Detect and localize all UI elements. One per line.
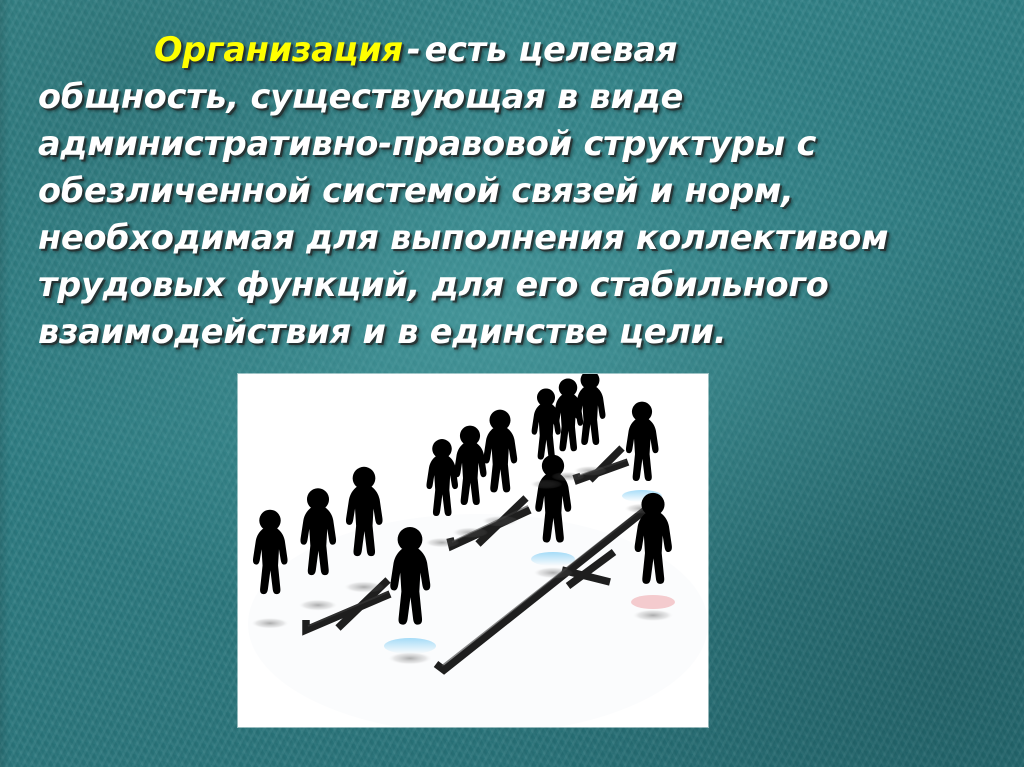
org-chart-illustration bbox=[238, 374, 708, 727]
highlighted-keyword: Организация bbox=[154, 30, 403, 69]
body-line-1-text: есть целевая bbox=[425, 30, 678, 69]
body-line-5: необходимая для выполнения коллективом bbox=[38, 214, 984, 261]
body-line-7: взаимодействия и в единстве цели. bbox=[38, 308, 984, 355]
slide-body-text: Организация-есть целевая общность, сущес… bbox=[38, 26, 984, 355]
body-line-3: административно-правовой структуры с bbox=[38, 120, 984, 167]
body-line-4: обезличенной системой связей и норм, bbox=[38, 167, 984, 214]
illustration-canvas bbox=[238, 374, 708, 727]
body-line-6: трудовых функций, для его стабильного bbox=[38, 261, 984, 308]
body-line-2: общность, существующая в виде bbox=[38, 73, 984, 120]
presentation-slide: Организация-есть целевая общность, сущес… bbox=[0, 0, 1024, 767]
dash-separator: - bbox=[403, 30, 425, 69]
body-line-1: Организация-есть целевая bbox=[38, 26, 984, 73]
organization-hierarchy-image bbox=[238, 374, 708, 727]
